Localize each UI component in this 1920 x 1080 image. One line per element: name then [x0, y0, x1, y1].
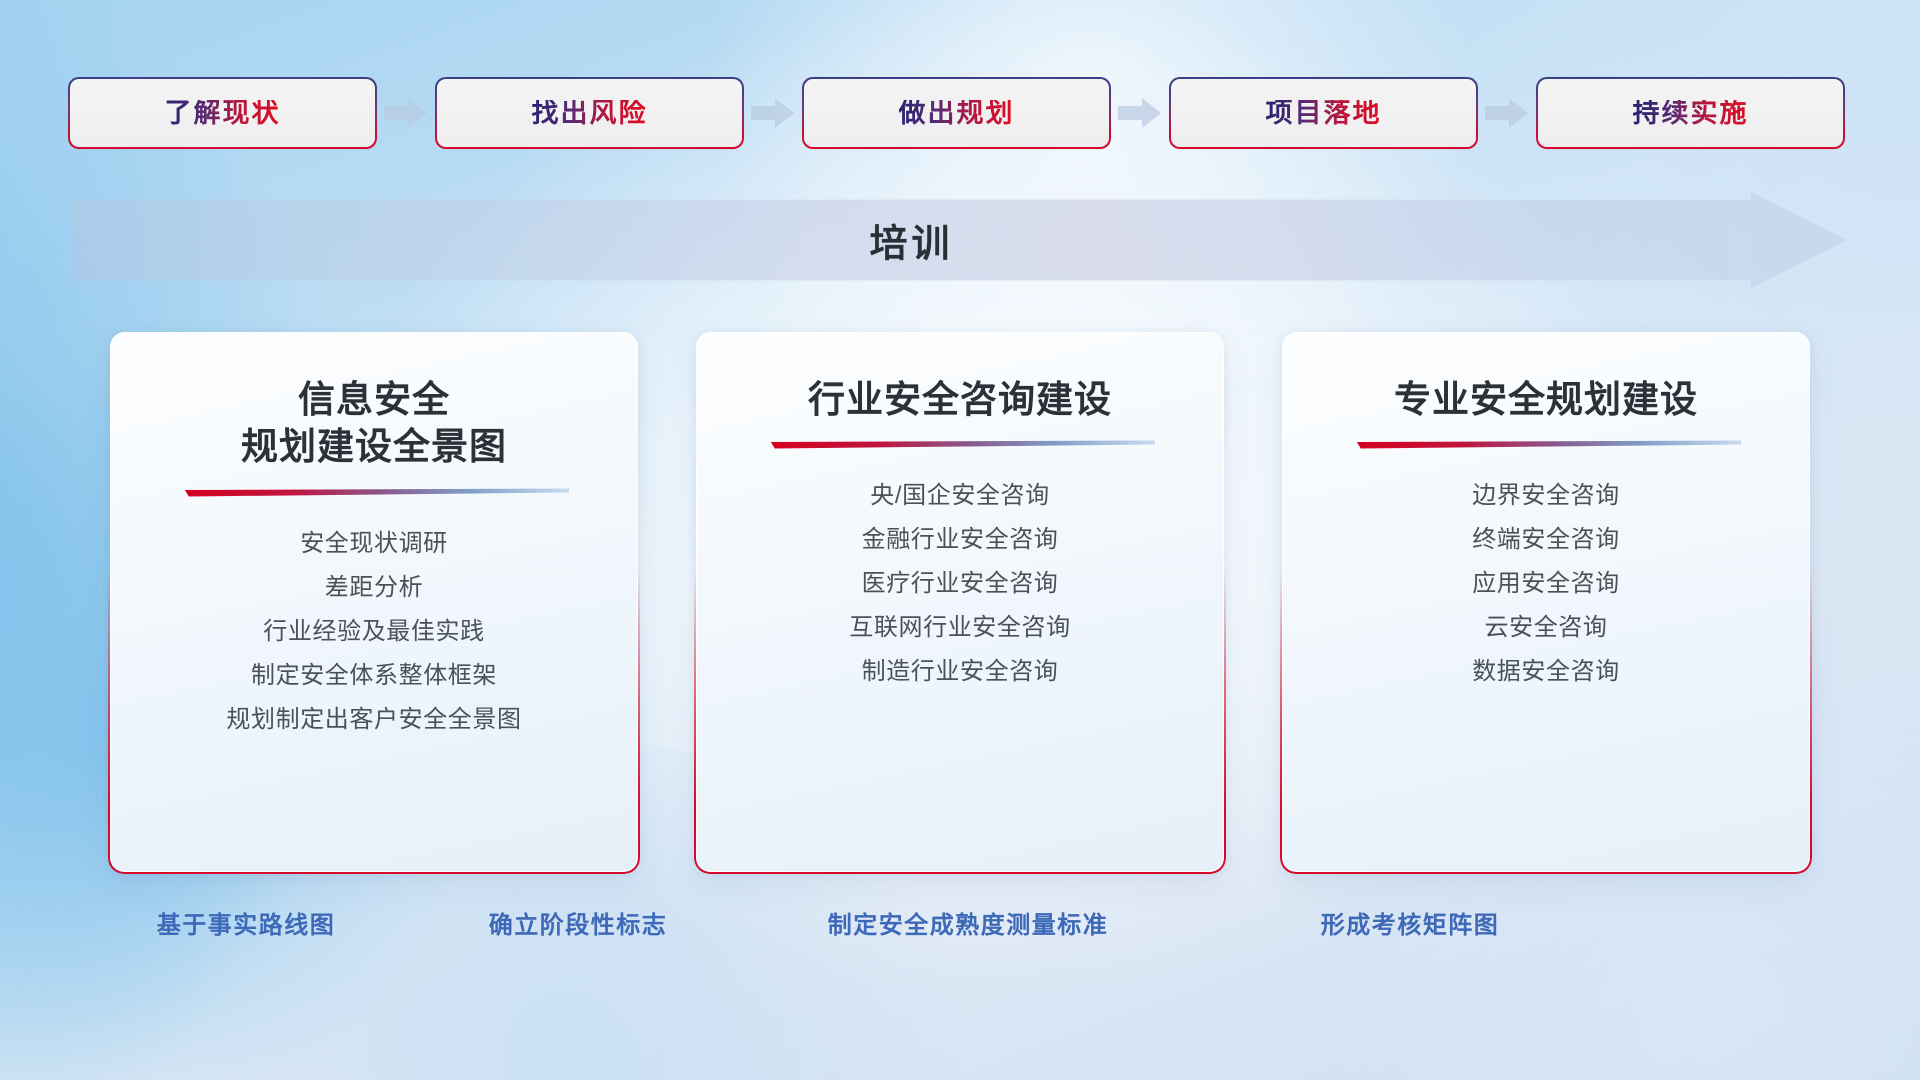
process-step-label: 找出风险: [532, 100, 648, 127]
list-item: 制造行业安全咨询: [722, 650, 1198, 694]
service-card-list: 央/国企安全咨询金融行业安全咨询医疗行业安全咨询互联网行业安全咨询制造行业安全咨…: [722, 474, 1198, 694]
list-item: 行业经验及最佳实践: [136, 610, 612, 654]
banner-label: 培训: [72, 213, 1751, 268]
service-card-2[interactable]: 行业安全咨询建设央/国企安全咨询金融行业安全咨询医疗行业安全咨询互联网行业安全咨…: [696, 332, 1224, 872]
list-item: 医疗行业安全咨询: [722, 562, 1198, 606]
process-step-3[interactable]: 做出规划: [804, 79, 1109, 147]
process-step-2[interactable]: 找出风险: [437, 79, 742, 147]
process-step-flow: 了解现状找出风险做出规划项目落地持续实施: [70, 78, 1850, 148]
footnote-label-2: 确立阶段性标志: [489, 905, 668, 940]
gradient-divider: [765, 439, 1155, 450]
process-step-1[interactable]: 了解现状: [70, 79, 375, 147]
arrow-right-icon: [1109, 93, 1171, 133]
list-item: 央/国企安全咨询: [722, 474, 1198, 518]
arrow-right-icon: [742, 93, 804, 133]
process-step-4[interactable]: 项目落地: [1171, 79, 1476, 147]
list-item: 数据安全咨询: [1308, 650, 1784, 694]
service-card-title-line: 专业安全规划建设: [1394, 376, 1698, 423]
list-item: 规划制定出客户安全全景图: [136, 698, 612, 742]
training-banner: 培训: [72, 192, 1847, 288]
process-step-label: 持续实施: [1633, 100, 1749, 127]
list-item: 差距分析: [136, 566, 612, 610]
list-item: 云安全咨询: [1308, 606, 1784, 650]
footnote-label-1: 基于事实路线图: [157, 905, 336, 940]
service-card-1[interactable]: 信息安全规划建设全景图安全现状调研差距分析行业经验及最佳实践制定安全体系整体框架…: [110, 332, 638, 872]
service-card-group: 信息安全规划建设全景图安全现状调研差距分析行业经验及最佳实践制定安全体系整体框架…: [110, 332, 1810, 872]
gradient-divider: [179, 487, 569, 498]
arrow-right-icon: [1476, 93, 1538, 133]
footnote-label-3: 制定安全成熟度测量标准: [828, 905, 1109, 940]
service-card-title-line: 规划建设全景图: [241, 423, 507, 470]
list-item: 金融行业安全咨询: [722, 518, 1198, 562]
list-item: 互联网行业安全咨询: [722, 606, 1198, 650]
service-card-3[interactable]: 专业安全规划建设边界安全咨询终端安全咨询应用安全咨询云安全咨询数据安全咨询: [1282, 332, 1810, 872]
service-card-title-line: 信息安全: [241, 376, 507, 423]
list-item: 制定安全体系整体框架: [136, 654, 612, 698]
list-item: 边界安全咨询: [1308, 474, 1784, 518]
footnote-group: 基于事实路线图确立阶段性标志制定安全成熟度测量标准形成考核矩阵图: [0, 905, 1920, 965]
footnote-label-4: 形成考核矩阵图: [1321, 905, 1500, 940]
service-card-title: 信息安全规划建设全景图: [241, 376, 507, 471]
service-card-list: 安全现状调研差距分析行业经验及最佳实践制定安全体系整体框架规划制定出客户安全全景…: [136, 522, 612, 742]
service-card-title: 专业安全规划建设: [1394, 376, 1698, 423]
list-item: 终端安全咨询: [1308, 518, 1784, 562]
process-step-label: 了解现状: [165, 100, 281, 127]
process-step-5[interactable]: 持续实施: [1538, 79, 1843, 147]
list-item: 安全现状调研: [136, 522, 612, 566]
slide-canvas: 了解现状找出风险做出规划项目落地持续实施 培训 信息安全规划建设全景图安全现状调…: [0, 0, 1920, 1080]
list-item: 应用安全咨询: [1308, 562, 1784, 606]
process-step-label: 项目落地: [1266, 100, 1382, 127]
process-step-label: 做出规划: [899, 100, 1015, 127]
gradient-divider: [1351, 439, 1741, 450]
service-card-list: 边界安全咨询终端安全咨询应用安全咨询云安全咨询数据安全咨询: [1308, 474, 1784, 694]
arrow-right-icon: [375, 93, 437, 133]
service-card-title-line: 行业安全咨询建设: [808, 376, 1112, 423]
service-card-title: 行业安全咨询建设: [808, 376, 1112, 423]
